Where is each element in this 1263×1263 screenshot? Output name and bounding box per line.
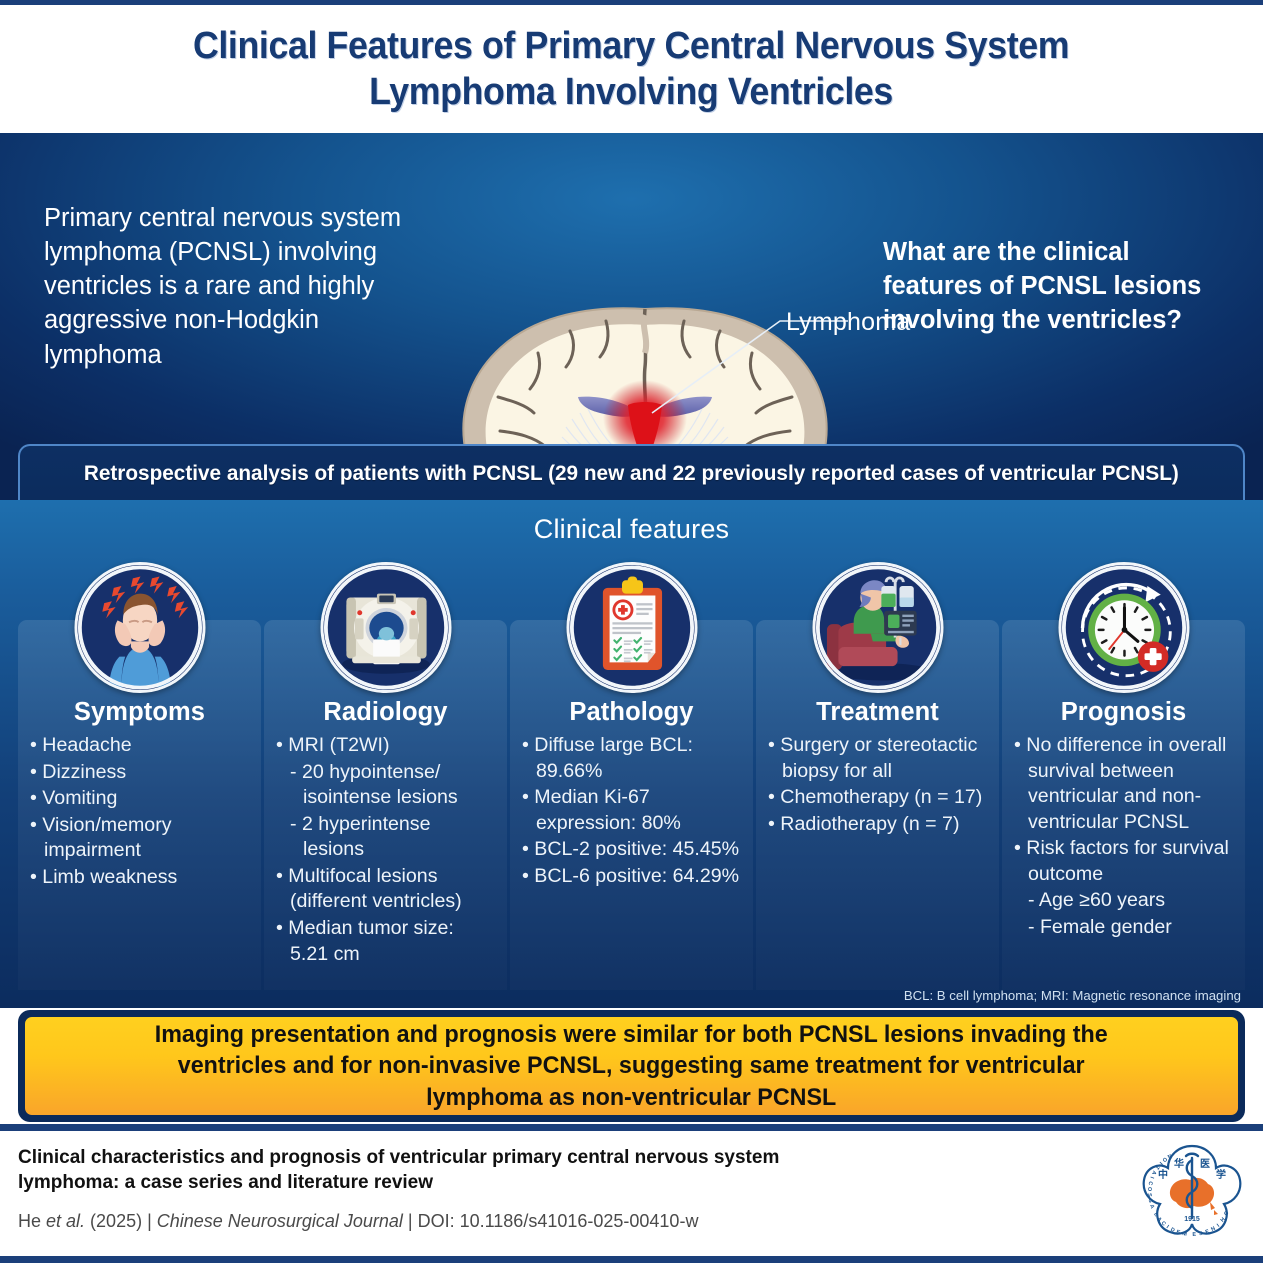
list-item: • Diffuse large BCL: 89.66%	[522, 733, 741, 784]
svg-text:医: 医	[1200, 1158, 1210, 1170]
list-item: • MRI (T2WI)	[276, 733, 495, 759]
column-title-symptoms: Symptoms	[30, 698, 249, 727]
svg-text:I: I	[1216, 1223, 1221, 1229]
citation: He et al. (2025) | Chinese Neurosurgical…	[18, 1211, 698, 1232]
svg-text:A: A	[1148, 1204, 1155, 1210]
column-title-radiology: Radiology	[276, 698, 495, 727]
retrospective-analysis-text: Retrospective analysis of patients with …	[84, 461, 1179, 486]
chinese-medical-association-logo-icon: 1915 中 华 医 学 C H I N E S E	[1135, 1135, 1249, 1249]
list-item: • Headache	[30, 733, 249, 759]
svg-text:M: M	[1182, 1231, 1188, 1238]
article-title-line-1: Clinical characteristics and prognosis o…	[18, 1145, 918, 1170]
feature-column-pathology: Pathology • Diffuse large BCL: 89.66% • …	[510, 620, 753, 990]
footer: Clinical characteristics and prognosis o…	[0, 1131, 1263, 1256]
medical-clipboard-icon	[566, 562, 697, 693]
conclusion-banner: Imaging presentation and prognosis were …	[18, 1010, 1245, 1122]
list-item: • Median tumor size: 5.21 cm	[276, 916, 495, 967]
conclusion-text: Imaging presentation and prognosis were …	[130, 1019, 1133, 1113]
conclusion-line-2: ventricles and for non-invasive PCNSL, s…	[155, 1050, 1108, 1081]
list-item: - Age ≥60 years	[1014, 888, 1233, 914]
list-item: • Vision/memory impairment	[30, 813, 249, 864]
article-title: Clinical characteristics and prognosis o…	[18, 1145, 918, 1195]
conclusion-inner: Imaging presentation and prognosis were …	[23, 1015, 1240, 1117]
list-item: • Limb weakness	[30, 865, 249, 891]
list-item: • BCL-6 positive: 64.29%	[522, 864, 741, 890]
svg-text:E: E	[1192, 1232, 1196, 1238]
pathology-list: • Diffuse large BCL: 89.66% • Median Ki-…	[522, 733, 741, 889]
citation-doi: | DOI: 10.1186/s41016-025-00410-w	[403, 1211, 699, 1231]
svg-text:华: 华	[1174, 1157, 1184, 1170]
prognosis-list: • No difference in overall survival betw…	[1014, 733, 1233, 941]
retrospective-analysis-banner: Retrospective analysis of patients with …	[18, 444, 1245, 500]
abbreviations-footnote: BCL: B cell lymphoma; MRI: Magnetic reso…	[904, 988, 1241, 1003]
section-title: Clinical features	[0, 514, 1263, 545]
list-item: • BCL-2 positive: 45.45%	[522, 837, 741, 863]
list-item: - 2 hyperintense lesions	[276, 812, 495, 863]
svg-text:O: O	[1146, 1187, 1152, 1192]
list-item: • Median Ki-67 expression: 80%	[522, 785, 741, 836]
feature-column-radiology: Radiology • MRI (T2WI) - 20 hypointense/…	[264, 620, 507, 990]
symptoms-list: • Headache • Dizziness • Vomiting • Visi…	[30, 733, 249, 890]
feature-column-prognosis: Prognosis • No difference in overall sur…	[1002, 620, 1245, 990]
list-item: - 20 hypointense/ isointense lesions	[276, 760, 495, 811]
logo-year-text: 1915	[1184, 1216, 1200, 1223]
column-title-pathology: Pathology	[522, 698, 741, 727]
list-item: • Radiotherapy (n = 7)	[768, 812, 987, 838]
list-item: • Risk factors for survival outcome	[1014, 836, 1233, 887]
title-band: Clinical Features of Primary Central Ner…	[0, 5, 1263, 133]
list-item: • Vomiting	[30, 786, 249, 812]
conclusion-line-3: lymphoma as non-ventricular PCNSL	[155, 1082, 1108, 1113]
list-item: • No difference in overall survival betw…	[1014, 733, 1233, 835]
svg-text:I: I	[1148, 1176, 1154, 1180]
svg-text:C: C	[1147, 1181, 1154, 1186]
page-title: Clinical Features of Primary Central Ner…	[193, 23, 1069, 116]
clock-survival-icon	[1058, 562, 1189, 693]
feature-column-symptoms: Symptoms • Headache • Dizziness • Vomiti…	[18, 620, 261, 990]
svg-text:学: 学	[1216, 1168, 1226, 1181]
hero-left-text: Primary central nervous system lymphoma …	[44, 201, 414, 372]
headache-person-icon	[74, 562, 205, 693]
list-item: • Dizziness	[30, 760, 249, 786]
title-line-1: Clinical Features of Primary Central Ner…	[193, 23, 1069, 69]
citation-journal: Chinese Neurosurgical Journal	[157, 1211, 403, 1231]
treatment-list: • Surgery or stereotactic biopsy for all…	[768, 733, 987, 837]
list-item: • Chemotherapy (n = 17)	[768, 785, 987, 811]
list-item: - Female gender	[1014, 915, 1233, 941]
column-title-treatment: Treatment	[768, 698, 987, 727]
citation-year: (2025) |	[85, 1211, 157, 1231]
feature-columns: Symptoms • Headache • Dizziness • Vomiti…	[18, 620, 1245, 990]
list-item: • Surgery or stereotactic biopsy for all	[768, 733, 987, 784]
chemotherapy-patient-icon	[812, 562, 943, 693]
svg-text:S: S	[1147, 1199, 1154, 1204]
footer-top-divider	[0, 1124, 1263, 1131]
citation-etal: et al.	[46, 1211, 85, 1231]
clinical-features-section: Clinical features	[0, 500, 1263, 1008]
mri-scanner-icon	[320, 562, 451, 693]
radiology-list: • MRI (T2WI) - 20 hypointense/ isointens…	[276, 733, 495, 967]
column-title-prognosis: Prognosis	[1014, 698, 1233, 727]
feature-column-treatment: Treatment • Surgery or stereotactic biop…	[756, 620, 999, 990]
article-title-line-2: lymphoma: a case series and literature r…	[18, 1170, 918, 1195]
svg-text:I: I	[1165, 1224, 1170, 1230]
hero-right-question: What are the clinical features of PCNSL …	[883, 235, 1223, 337]
bottom-divider	[0, 1256, 1263, 1263]
list-item: • Multifocal lesions (different ventricl…	[276, 864, 495, 915]
conclusion-line-1: Imaging presentation and prognosis were …	[155, 1019, 1108, 1050]
svg-text:A: A	[1150, 1169, 1157, 1175]
citation-authors: He	[18, 1211, 46, 1231]
svg-text:S: S	[1146, 1193, 1152, 1197]
svg-text:E: E	[1205, 1229, 1211, 1236]
infographic-page: Clinical Features of Primary Central Ner…	[0, 0, 1263, 1263]
title-line-2: Lymphoma Involving Ventricles	[193, 69, 1069, 115]
